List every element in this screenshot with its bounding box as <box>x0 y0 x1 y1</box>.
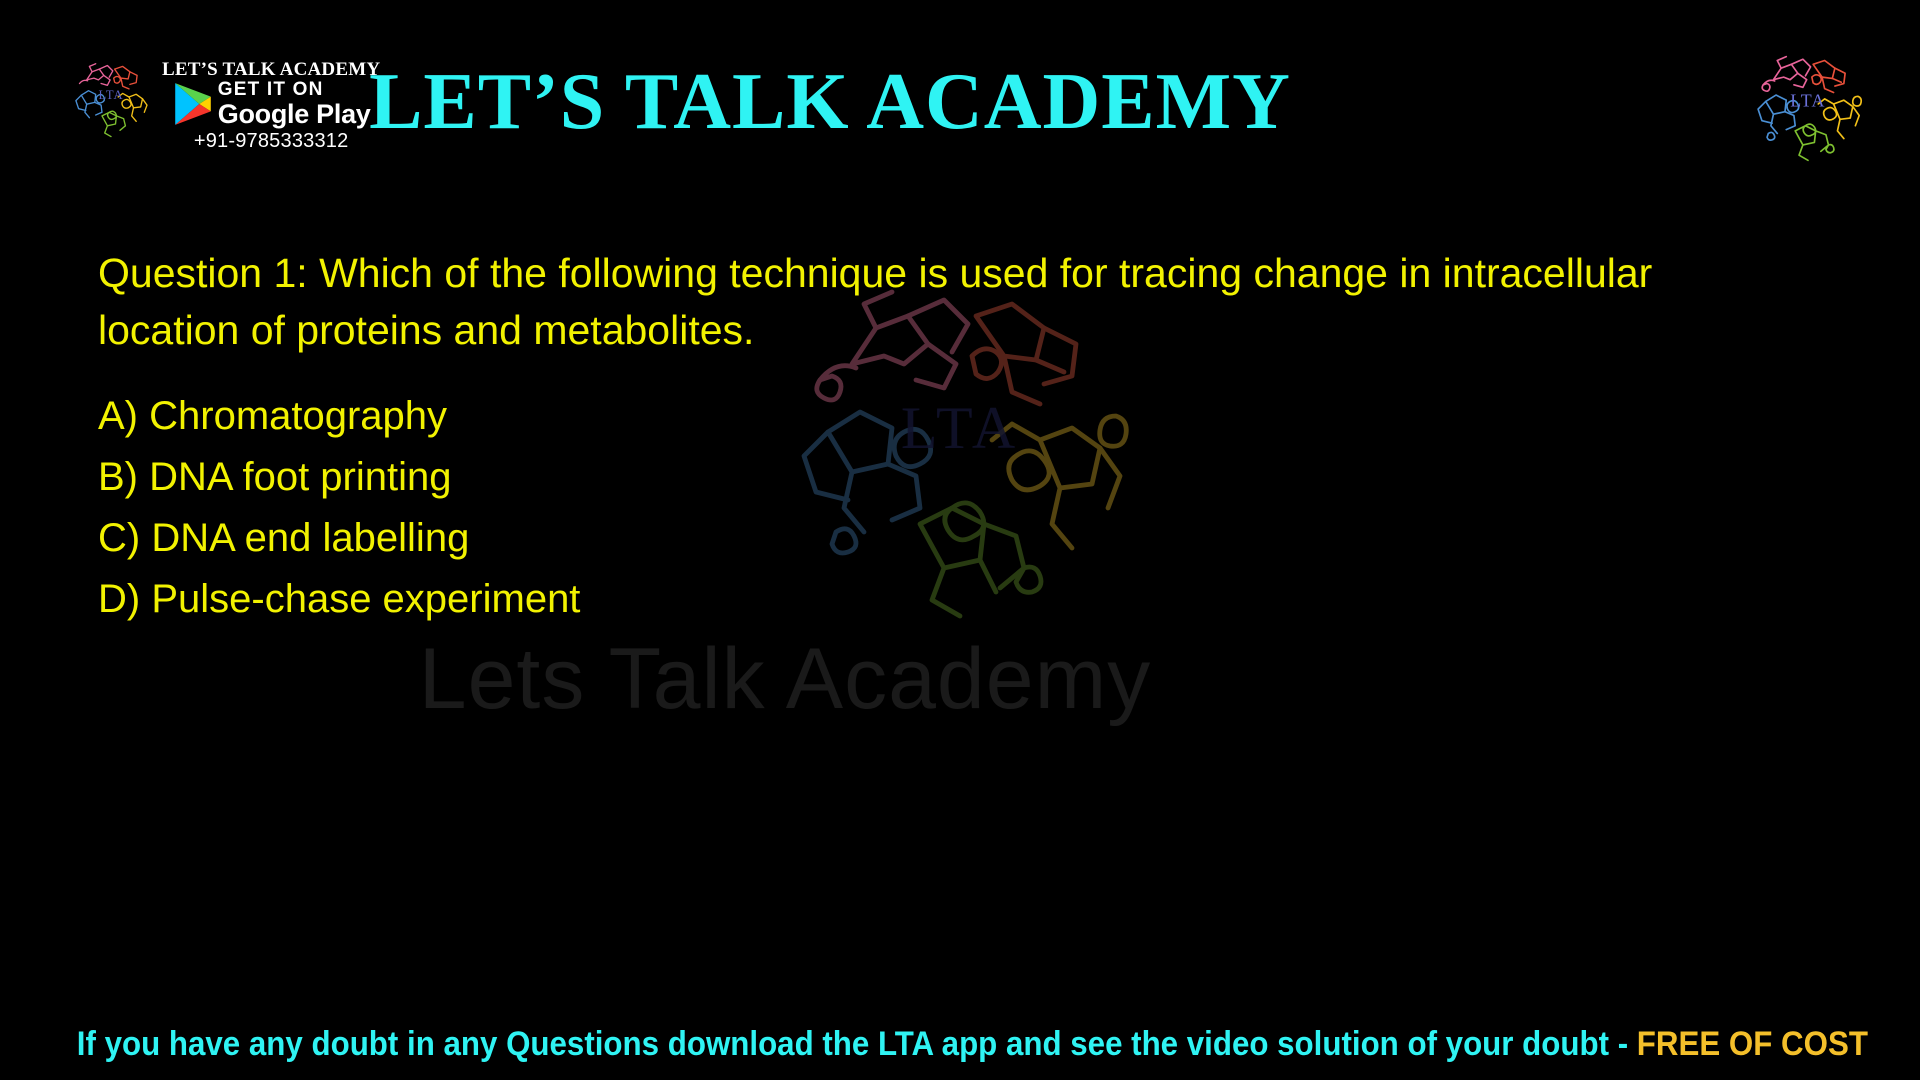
option-d[interactable]: D) Pulse-chase experiment <box>98 569 1778 630</box>
option-c[interactable]: C) DNA end labelling <box>98 508 1778 569</box>
page-title: LET’S TALK ACADEMY <box>0 62 1790 142</box>
option-a[interactable]: A) Chromatography <box>98 386 1778 447</box>
slide-root: LTA Lets Talk Academy <box>0 0 1920 1080</box>
logo-lta-text: LTA <box>1790 91 1826 111</box>
footer-message: If you have any doubt in any Questions d… <box>77 1025 1637 1063</box>
watermark-text: Lets Talk Academy <box>0 630 1745 729</box>
question-text: Question 1: Which of the following techn… <box>98 245 1738 358</box>
option-b[interactable]: B) DNA foot printing <box>98 447 1778 508</box>
footer-highlight: FREE OF COST <box>1637 1025 1868 1063</box>
footer-banner: If you have any doubt in any Questions d… <box>77 1025 1843 1064</box>
options-list: A) Chromatography B) DNA foot printing C… <box>98 386 1778 629</box>
header: LTA LET’S TALK ACADEMY GET I <box>0 0 1920 180</box>
lta-protein-logo-icon: LTA <box>1744 40 1872 168</box>
question-content: Question 1: Which of the following techn… <box>98 245 1778 629</box>
